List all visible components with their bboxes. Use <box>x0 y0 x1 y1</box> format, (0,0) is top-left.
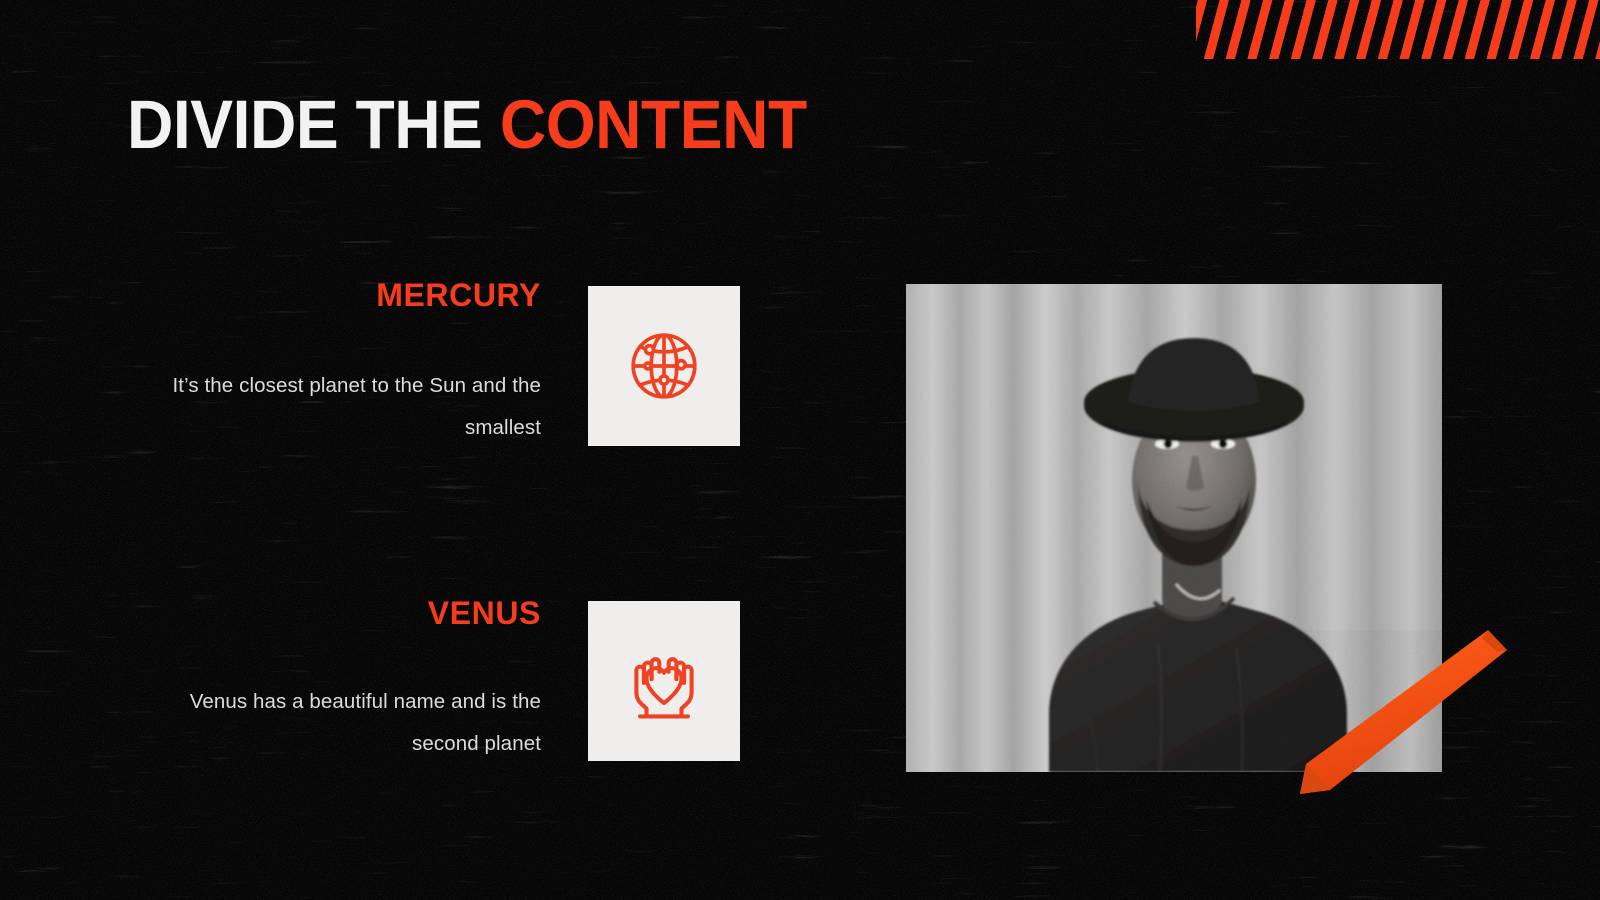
icon-card-mercury <box>588 286 740 446</box>
diagonal-stripes-decoration <box>1196 0 1600 59</box>
slide-canvas: DIVIDE THE CONTENT MERCURY It’s the clos… <box>0 0 1600 900</box>
heading-venus: VENUS <box>129 594 541 632</box>
hands-holding-heart-icon <box>618 635 710 727</box>
page-title: DIVIDE THE CONTENT <box>127 88 807 162</box>
page-title-white-part: DIVIDE THE <box>127 86 482 163</box>
portrait-photo-graphic <box>906 284 1442 772</box>
body-venus: Venus has a beautiful name and is the se… <box>129 681 541 765</box>
portrait-photo <box>906 284 1442 772</box>
heading-mercury: MERCURY <box>129 276 541 314</box>
content-block-mercury: MERCURY It’s the closest planet to the S… <box>129 276 541 449</box>
body-mercury: It’s the closest planet to the Sun and t… <box>129 365 541 449</box>
page-title-red-part: CONTENT <box>500 86 807 163</box>
icon-card-venus <box>588 601 740 761</box>
content-block-venus: VENUS Venus has a beautiful name and is … <box>129 594 541 765</box>
globe-network-icon <box>620 322 708 410</box>
